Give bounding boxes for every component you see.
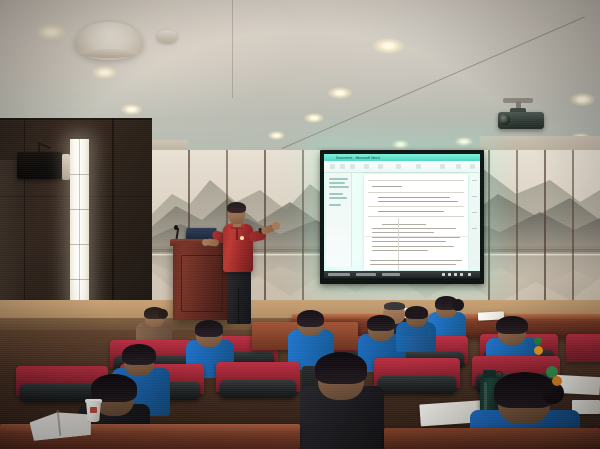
doc-paragraph-line: [372, 237, 460, 238]
presenter-shirt-logo: [240, 236, 244, 240]
attendee-badge: [552, 376, 562, 386]
downlight-icon: [36, 24, 66, 40]
presenter-right-hand: [272, 222, 280, 230]
downlight-icon: [304, 113, 324, 123]
downlight-icon: [268, 131, 285, 140]
light-panel-divider: [70, 209, 89, 210]
tray-clock[interactable]: [468, 273, 471, 276]
podium-front-panel: [181, 255, 223, 312]
nav-pane-line: [329, 186, 349, 188]
doc-text-line: [378, 211, 444, 212]
attendee-front-dark-hair: [315, 352, 367, 384]
projected-right-pane: [470, 173, 479, 267]
attendee-mid-left-hair: [195, 320, 223, 337]
presenter-hair: [227, 202, 246, 213]
doc-footer-line: [370, 264, 456, 265]
right-pane-tick: [472, 196, 477, 197]
wall-mounted-display: [17, 152, 62, 179]
doc-paragraph-line: [372, 228, 456, 229]
doc-text-line: [378, 201, 458, 202]
projection-screen[interactable]: Document - Microsoft Word: [324, 154, 480, 278]
mural-panel-divider: [302, 150, 304, 310]
downlight-icon: [392, 140, 409, 149]
nav-pane-line: [329, 193, 343, 195]
nav-pane-line: [329, 178, 348, 180]
ribbon-tool-icon[interactable]: [470, 164, 475, 169]
doc-paragraph-line: [372, 250, 428, 251]
doc-column-rule: [398, 218, 399, 270]
ceiling-seam-vertical: [232, 0, 233, 98]
mural-panel-divider: [544, 150, 546, 310]
attendee-mid-far-hair: [405, 306, 428, 319]
taskbar-app-button[interactable]: [356, 273, 376, 277]
presenter-left-hand: [202, 239, 209, 246]
projected-document-page: [364, 174, 468, 270]
ribbon-tool-icon[interactable]: [440, 164, 445, 169]
attendee-back-left-hair-bun: [158, 309, 168, 319]
doc-text-line: [378, 197, 450, 198]
presenter-shirt-placket: [236, 228, 238, 240]
downlight-icon: [92, 66, 117, 79]
presenter-leg-split: [238, 288, 239, 324]
conference-room-photo: Document - Microsoft Word: [0, 0, 600, 449]
right-pane-tick: [472, 212, 477, 213]
attendee-back-center-hair: [384, 302, 405, 310]
ribbon-tool-icon[interactable]: [340, 164, 345, 169]
tray-icon[interactable]: [460, 273, 463, 276]
projected-navigation-pane[interactable]: [326, 173, 352, 267]
light-panel-divider: [70, 279, 89, 280]
attendee-front-center-hair: [122, 344, 156, 365]
dome-light-rim: [79, 49, 139, 58]
downlight-icon: [455, 137, 473, 146]
light-panel-divider: [70, 244, 89, 245]
tray-icon[interactable]: [448, 273, 451, 276]
attendee-mid-right-hair: [367, 315, 395, 331]
ribbon-tool-icon[interactable]: [396, 164, 401, 169]
doc-footer-line: [370, 260, 462, 261]
nav-pane-line: [329, 197, 347, 199]
nav-pane-line: [329, 182, 345, 184]
doc-rule: [368, 206, 464, 207]
wall-speaker: [62, 154, 70, 180]
shoulder-badge: [534, 346, 543, 355]
desk-row1-near-right: [384, 428, 600, 449]
right-pane-tick: [472, 180, 477, 181]
seat-row1-c-headrest: [220, 380, 296, 398]
mural-panel-divider: [516, 150, 518, 310]
taskbar-app-button[interactable]: [382, 273, 400, 277]
downlight-icon: [373, 38, 404, 54]
doc-paragraph-line: [372, 246, 454, 247]
nav-pane-line: [329, 204, 341, 206]
downlight-icon: [121, 104, 142, 115]
doc-rule: [368, 192, 464, 193]
right-pane-tick: [472, 228, 477, 229]
doc-rule: [368, 180, 464, 181]
attendee-front-left-hair: [91, 374, 137, 402]
ribbon-tool-icon[interactable]: [378, 164, 383, 169]
doc-paragraph-line: [382, 224, 426, 225]
ribbon-tool-icon[interactable]: [350, 164, 355, 169]
shoulder-badge: [534, 337, 542, 345]
doc-text-line: [372, 186, 402, 187]
presenter-torso: [223, 224, 253, 272]
ribbon-tool-icon[interactable]: [416, 164, 421, 169]
seat-row1-d-headrest: [378, 376, 456, 394]
paper-cup-logo: [90, 407, 97, 413]
doc-paragraph-line: [372, 232, 434, 233]
downlight-icon: [570, 93, 595, 106]
tray-icon[interactable]: [442, 273, 445, 276]
left-wall-column: [0, 160, 26, 310]
attendee-front-right-hair-bun: [542, 382, 564, 404]
light-panel-divider: [70, 174, 89, 175]
doc-rule: [364, 236, 468, 237]
downlight-icon: [328, 87, 352, 99]
doc-rule: [368, 216, 464, 217]
projected-window-title: Document - Microsoft Word: [336, 155, 380, 161]
taskbar-start-button[interactable]: [328, 273, 350, 277]
ribbon-tool-icon[interactable]: [456, 164, 461, 169]
podium-microphone: [174, 225, 178, 230]
projected-taskbar[interactable]: [324, 271, 480, 279]
mural-panel-divider: [488, 150, 490, 310]
seat-row2-d[interactable]: [566, 334, 600, 362]
doc-paragraph-line: [372, 241, 446, 242]
tray-icon[interactable]: [454, 273, 457, 276]
projected-ribbon-toolbar[interactable]: [324, 161, 480, 173]
smoke-detector-icon: [157, 30, 177, 43]
left-wall-seam: [0, 118, 152, 120]
ribbon-tool-icon[interactable]: [330, 164, 335, 169]
mural-panel-divider: [572, 150, 574, 310]
attendee-mid-center-hair: [297, 310, 324, 327]
light-panel-center-line: [79, 139, 80, 313]
projector-lens-icon: [499, 114, 510, 125]
ribbon-tool-icon[interactable]: [364, 164, 369, 169]
attendee-mid-far-right-hair: [496, 316, 528, 334]
attendee-back-right-hair-bun: [452, 299, 464, 311]
